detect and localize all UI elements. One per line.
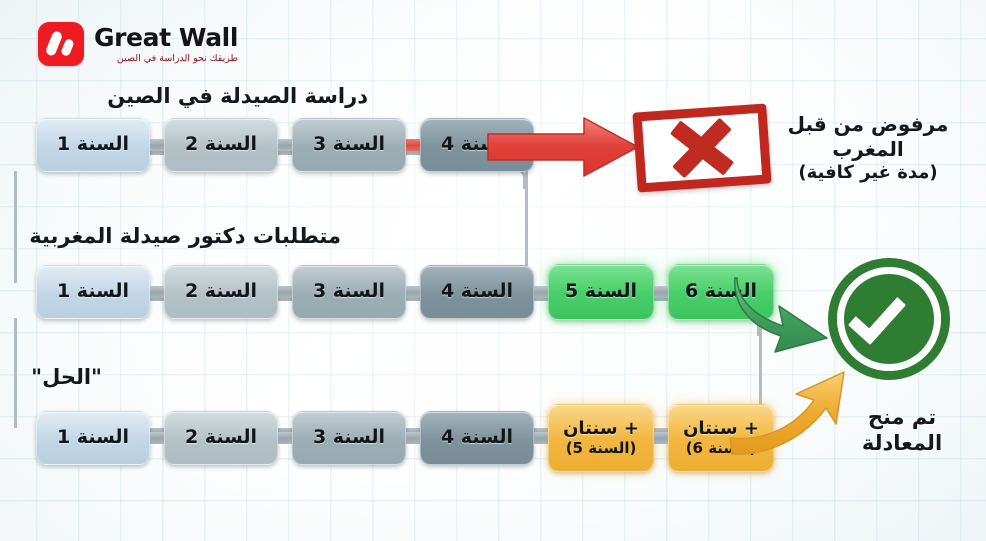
row3-year-chain: السنة 1 السنة 2 السنة 3 السنة 4 + سنتان …	[36, 404, 774, 472]
chain-connector	[654, 432, 668, 444]
year-box: السنة 3	[292, 265, 406, 319]
brand-logo: Great Wall طريقك نحو الدراسة في الصين	[38, 22, 238, 66]
year-box: السنة 3	[292, 118, 406, 172]
year-box: السنة 4	[420, 411, 534, 465]
rejected-subtitle: (مدة غير كافية)	[754, 162, 982, 185]
chain-connector	[150, 432, 164, 444]
rejected-title: مرفوض من قبل المغرب	[754, 112, 982, 162]
brand-tagline: طريقك نحو الدراسة في الصين	[94, 54, 238, 64]
year-box-extra: السنة 5	[548, 264, 654, 320]
chain-connector	[278, 139, 292, 151]
brand-text: Great Wall طريقك نحو الدراسة في الصين	[94, 25, 238, 64]
logo-bar-large	[45, 30, 64, 57]
year-box: السنة 1	[36, 411, 150, 465]
row-heading-study-china: دراسة الصيدلة في الصين	[107, 84, 368, 108]
granted-subtitle: المعادلة	[836, 430, 968, 456]
row1-year-chain: السنة 1 السنة 2 السنة 3 السنة 4	[36, 118, 534, 172]
year-box-extra: + سنتان (السنة 5)	[548, 404, 654, 472]
chain-connector	[278, 432, 292, 444]
brand-name: Great Wall	[94, 25, 238, 50]
granted-title: تم منح	[836, 404, 968, 430]
check-circle-icon	[828, 258, 950, 380]
granted-label: تم منح المعادلة	[836, 404, 968, 457]
year-box: السنة 2	[164, 411, 278, 465]
chain-connector	[278, 286, 292, 298]
year-box: السنة 1	[36, 265, 150, 319]
year-box: السنة 2	[164, 265, 278, 319]
chain-connector	[150, 286, 164, 298]
great-wall-logo-icon	[38, 22, 84, 66]
red-arrow-rejected	[488, 116, 648, 178]
logo-bar-small	[60, 38, 75, 57]
year-box: السنة 3	[292, 411, 406, 465]
chain-connector	[654, 286, 668, 298]
year-box: السنة 1	[36, 118, 150, 172]
row-heading-morocco-requirements: متطلبات دكتور صيدلة المغربية	[29, 224, 341, 248]
chain-connector	[406, 432, 420, 444]
chain-connector	[534, 432, 548, 444]
chain-connector	[534, 286, 548, 298]
chain-connector	[406, 286, 420, 298]
x-stamp-frame	[632, 103, 771, 192]
infographic-canvas: Great Wall طريقك نحو الدراسة في الصين در…	[0, 0, 986, 541]
chain-connector	[406, 139, 420, 151]
row-heading-solution: "الحل"	[31, 365, 102, 389]
row2-year-chain: السنة 1 السنة 2 السنة 3 السنة 4 السنة 5 …	[36, 264, 774, 320]
year-box: السنة 4	[420, 265, 534, 319]
rejected-label: مرفوض من قبل المغرب (مدة غير كافية)	[754, 112, 982, 185]
year-box: السنة 2	[164, 118, 278, 172]
x-stamp-icon	[632, 103, 771, 192]
chain-connector	[150, 139, 164, 151]
